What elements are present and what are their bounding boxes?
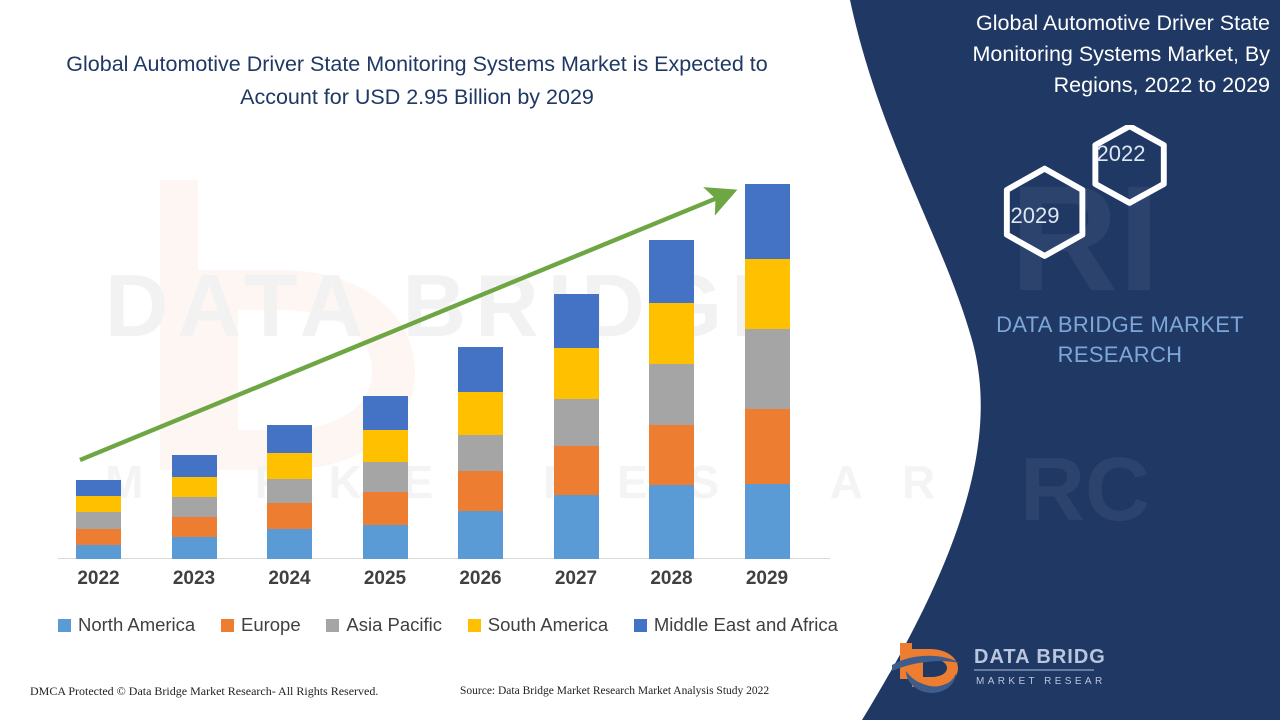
data-bridge-logo: DATA BRIDGE MARKET RESEARCH bbox=[890, 635, 1105, 695]
bar-segment-middle-east-and-africa-2028 bbox=[649, 240, 694, 303]
growth-arrow-icon bbox=[0, 0, 860, 600]
bar-segment-south-america-2029 bbox=[745, 259, 790, 329]
bar-segment-asia-pacific-2023 bbox=[172, 497, 217, 517]
bar-segment-middle-east-and-africa-2023 bbox=[172, 455, 217, 477]
bar-segment-north-america-2022 bbox=[76, 545, 121, 559]
bar-segment-europe-2028 bbox=[649, 425, 694, 485]
footer-source: Source: Data Bridge Market Research Mark… bbox=[460, 685, 769, 697]
logo-text-bottom: MARKET RESEARCH bbox=[976, 676, 1105, 687]
bar-segment-middle-east-and-africa-2029 bbox=[745, 184, 790, 259]
footer-copyright: DMCA Protected © Data Bridge Market Rese… bbox=[30, 684, 378, 699]
legend-swatch-icon bbox=[58, 619, 71, 632]
bar-column-2022 bbox=[76, 0, 121, 559]
bar-segment-south-america-2027 bbox=[554, 348, 599, 399]
x-axis-label-2024: 2024 bbox=[245, 568, 335, 590]
bar-segment-north-america-2028 bbox=[649, 485, 694, 559]
x-axis-label-2026: 2026 bbox=[436, 568, 526, 590]
bar-segment-south-america-2028 bbox=[649, 303, 694, 364]
bar-segment-north-america-2027 bbox=[554, 495, 599, 559]
legend-swatch-icon bbox=[326, 619, 339, 632]
x-axis-label-2025: 2025 bbox=[340, 568, 430, 590]
chart-legend: North AmericaEuropeAsia PacificSouth Ame… bbox=[58, 612, 838, 638]
logo-text-top: DATA BRIDGE bbox=[974, 646, 1105, 668]
bar-segment-asia-pacific-2026 bbox=[458, 435, 503, 471]
bar-segment-europe-2026 bbox=[458, 471, 503, 511]
bar-segment-middle-east-and-africa-2022 bbox=[76, 480, 121, 496]
bar-segment-north-america-2025 bbox=[363, 525, 408, 559]
bar-segment-north-america-2029 bbox=[745, 484, 790, 559]
bar-segment-europe-2027 bbox=[554, 446, 599, 495]
bar-segment-south-america-2026 bbox=[458, 392, 503, 435]
legend-swatch-icon bbox=[468, 619, 481, 632]
hexagon-2029-label: 2029 bbox=[987, 203, 1083, 229]
bar-segment-middle-east-and-africa-2026 bbox=[458, 347, 503, 392]
hexagon-group: 2029 2022 bbox=[975, 125, 1185, 290]
x-axis-label-2027: 2027 bbox=[531, 568, 621, 590]
bar-segment-south-america-2024 bbox=[267, 453, 312, 479]
legend-item-north-america[interactable]: North America bbox=[58, 614, 195, 636]
bar-segment-north-america-2026 bbox=[458, 511, 503, 559]
legend-label: South America bbox=[488, 614, 608, 636]
bar-segment-asia-pacific-2022 bbox=[76, 512, 121, 529]
legend-label: North America bbox=[78, 614, 195, 636]
bar-segment-asia-pacific-2029 bbox=[745, 329, 790, 409]
legend-label: Asia Pacific bbox=[346, 614, 442, 636]
right-panel-title: Global Automotive Driver State Monitorin… bbox=[905, 8, 1270, 101]
legend-label: Europe bbox=[241, 614, 301, 636]
bar-segment-asia-pacific-2024 bbox=[267, 479, 312, 503]
legend-swatch-icon bbox=[221, 619, 234, 632]
bar-segment-middle-east-and-africa-2024 bbox=[267, 425, 312, 453]
bar-segment-europe-2022 bbox=[76, 529, 121, 545]
right-panel-brand: DATA BRIDGE MARKET RESEARCH bbox=[960, 310, 1280, 370]
bar-segment-asia-pacific-2027 bbox=[554, 399, 599, 446]
chart-plot-area: 20222023202420252026202720282029 bbox=[0, 0, 860, 600]
brand-line-2: RESEARCH bbox=[960, 340, 1280, 370]
bar-column-2029 bbox=[745, 0, 790, 559]
bar-segment-asia-pacific-2025 bbox=[363, 462, 408, 492]
bar-segment-europe-2023 bbox=[172, 517, 217, 537]
bar-column-2027 bbox=[554, 0, 599, 559]
legend-swatch-icon bbox=[634, 619, 647, 632]
svg-text:RC: RC bbox=[1020, 440, 1150, 540]
legend-item-middle-east-and-africa[interactable]: Middle East and Africa bbox=[634, 614, 838, 636]
hexagon-2022-label: 2022 bbox=[1073, 141, 1169, 167]
bar-segment-middle-east-and-africa-2025 bbox=[363, 396, 408, 430]
bar-column-2028 bbox=[649, 0, 694, 559]
bar-segment-north-america-2023 bbox=[172, 537, 217, 559]
bar-segment-europe-2024 bbox=[267, 503, 312, 529]
infographic-slide: DATA BRIDGE M A R K E T R E S E A R C H … bbox=[0, 0, 1280, 720]
legend-item-south-america[interactable]: South America bbox=[468, 614, 608, 636]
bar-segment-asia-pacific-2028 bbox=[649, 364, 694, 425]
x-axis-label-2023: 2023 bbox=[149, 568, 239, 590]
legend-item-europe[interactable]: Europe bbox=[221, 614, 301, 636]
bar-segment-europe-2029 bbox=[745, 409, 790, 484]
bar-segment-south-america-2023 bbox=[172, 477, 217, 497]
logo-mark bbox=[892, 643, 960, 693]
legend-item-asia-pacific[interactable]: Asia Pacific bbox=[326, 614, 442, 636]
x-axis-label-2022: 2022 bbox=[54, 568, 144, 590]
bar-segment-south-america-2025 bbox=[363, 430, 408, 462]
bar-column-2024 bbox=[267, 0, 312, 559]
bar-segment-middle-east-and-africa-2027 bbox=[554, 294, 599, 348]
brand-line-1: DATA BRIDGE MARKET bbox=[960, 310, 1280, 340]
bar-column-2023 bbox=[172, 0, 217, 559]
x-axis-label-2028: 2028 bbox=[627, 568, 717, 590]
bar-segment-north-america-2024 bbox=[267, 529, 312, 559]
bar-segment-europe-2025 bbox=[363, 492, 408, 525]
bar-column-2025 bbox=[363, 0, 408, 559]
bar-column-2026 bbox=[458, 0, 503, 559]
legend-label: Middle East and Africa bbox=[654, 614, 838, 636]
bar-segment-south-america-2022 bbox=[76, 496, 121, 512]
x-axis-labels: 20222023202420252026202720282029 bbox=[0, 568, 860, 596]
x-axis-label-2029: 2029 bbox=[722, 568, 812, 590]
